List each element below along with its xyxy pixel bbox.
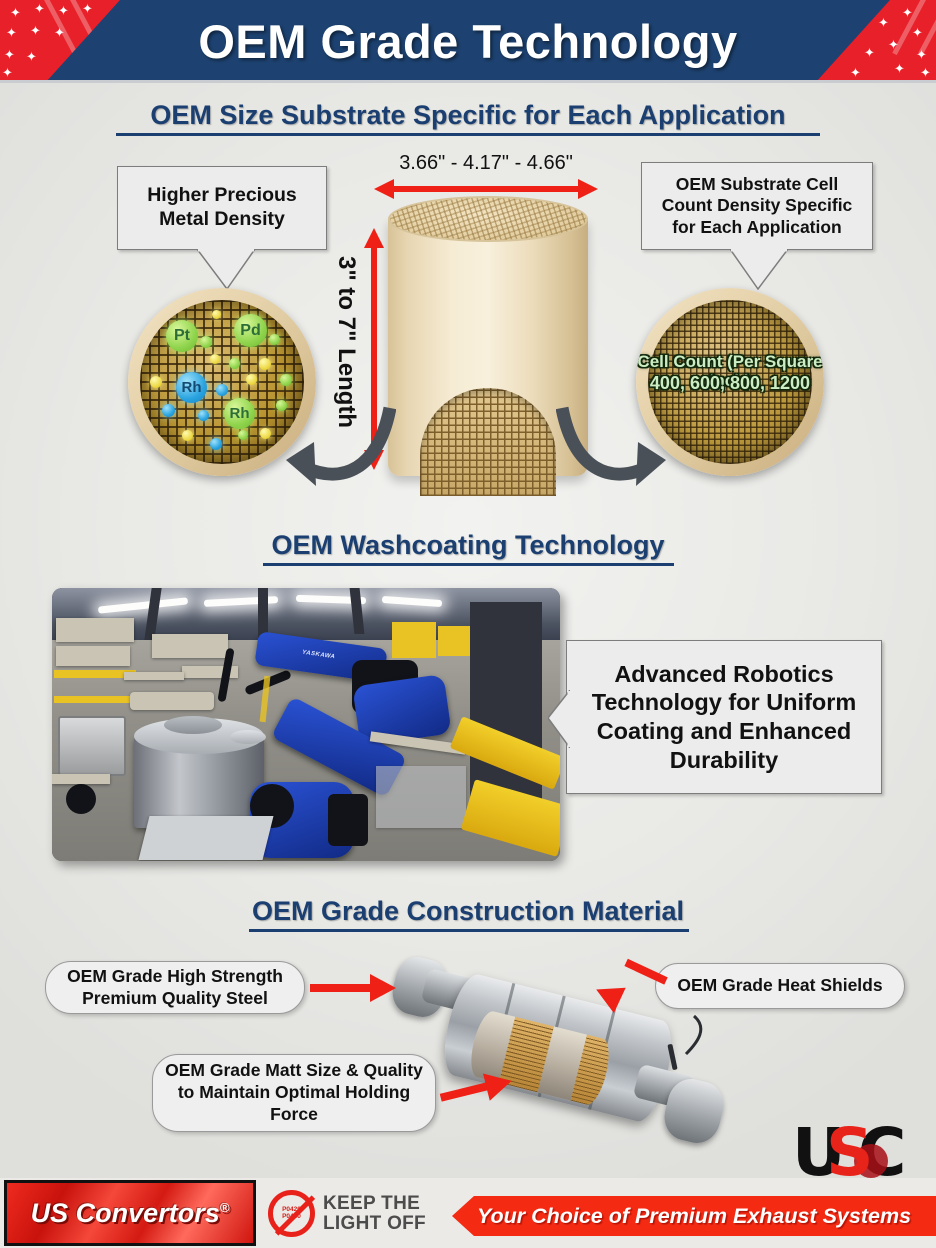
metal-dot — [269, 334, 280, 345]
tagline-banner: Your Choice of Premium Exhaust Systems — [452, 1196, 936, 1236]
metal-dot — [229, 358, 240, 369]
section-heading-substrate: OEM Size Substrate Specific for Each App… — [0, 100, 936, 131]
header-divider — [0, 80, 936, 83]
curved-arrow-right-icon — [556, 398, 666, 494]
no-check-engine-light-icon: P0420 P0430 — [268, 1190, 315, 1237]
callout-advanced-robotics: Advanced Robotics Technology for Uniform… — [566, 640, 882, 794]
metal-dot — [210, 438, 222, 450]
metal-dot — [200, 336, 212, 348]
metal-particle-rh-green: Rh — [224, 398, 255, 429]
metal-dot — [259, 358, 271, 370]
callout-tail-right — [730, 249, 788, 291]
usc-logo: U S C — [792, 1122, 924, 1184]
page-header: ✦ ✦ ✦ ✦ ✦ ✦ ✦ ✦ ✦ ✦ ✦ ✦ ✦ ✦ ✦ ✦ ✦ ✦ ✦ OE… — [0, 0, 936, 82]
tagline-text: Your Choice of Premium Exhaust Systems — [477, 1204, 911, 1229]
section-rule-3 — [249, 929, 689, 932]
keep-light-off-badge: P0420 P0430 KEEP THE LIGHT OFF — [268, 1190, 426, 1237]
photo-monitor — [58, 716, 126, 776]
metal-dot — [246, 374, 257, 385]
metal-dot — [212, 310, 221, 319]
metal-dot — [210, 354, 220, 364]
keep-light-line-1: KEEP THE — [323, 1194, 426, 1213]
callout-tail-left — [197, 249, 255, 291]
section-rule-1 — [116, 133, 820, 136]
metal-dot — [162, 404, 175, 417]
cylinder-top-face — [388, 196, 588, 242]
section-heading-construction: OEM Grade Construction Material — [0, 896, 936, 927]
keep-light-line-2: LIGHT OFF — [323, 1214, 426, 1233]
callout-tail-robotics — [548, 690, 570, 748]
washcoating-factory-photo: YASKAWA — [52, 588, 560, 861]
page-title: OEM Grade Technology — [0, 0, 936, 82]
brand-logo-box: US Convertors® — [4, 1180, 256, 1246]
callout-matt-quality: OEM Grade Matt Size & Quality to Maintai… — [152, 1054, 436, 1132]
callout-premium-steel: OEM Grade High Strength Premium Quality … — [45, 961, 305, 1014]
metal-particle-rh-blue: Rh — [176, 372, 207, 403]
metal-dot — [260, 428, 271, 439]
section-heading-washcoating: OEM Washcoating Technology — [0, 530, 936, 561]
curved-arrow-left-icon — [286, 398, 396, 494]
metal-dot — [150, 376, 162, 388]
callout-cell-count-density: OEM Substrate Cell Count Density Specifi… — [641, 162, 873, 250]
substrate-width-label: 3.66" - 4.17" - 4.66" — [378, 152, 594, 175]
metal-dot — [216, 384, 228, 396]
metal-dot — [280, 374, 292, 386]
logo-letter-s: S — [826, 1122, 874, 1184]
metal-particle-pd: Pd — [234, 314, 267, 347]
metal-particle-pt: Pt — [166, 320, 198, 352]
section-rule-2 — [263, 563, 674, 566]
callout-heat-shields: OEM Grade Heat Shields — [655, 963, 905, 1009]
brand-name: US Convertors® — [31, 1198, 230, 1229]
metal-dot — [182, 430, 193, 441]
infographic-page: ✦ ✦ ✦ ✦ ✦ ✦ ✦ ✦ ✦ ✦ ✦ ✦ ✦ ✦ ✦ ✦ ✦ ✦ ✦ OE… — [0, 0, 936, 1248]
metal-dot — [238, 430, 248, 440]
metal-dot — [198, 410, 209, 421]
callout-precious-metal-density: Higher Precious Metal Density — [117, 166, 327, 250]
cell-count-values: 400, 600, 800, 1200 — [636, 373, 824, 393]
